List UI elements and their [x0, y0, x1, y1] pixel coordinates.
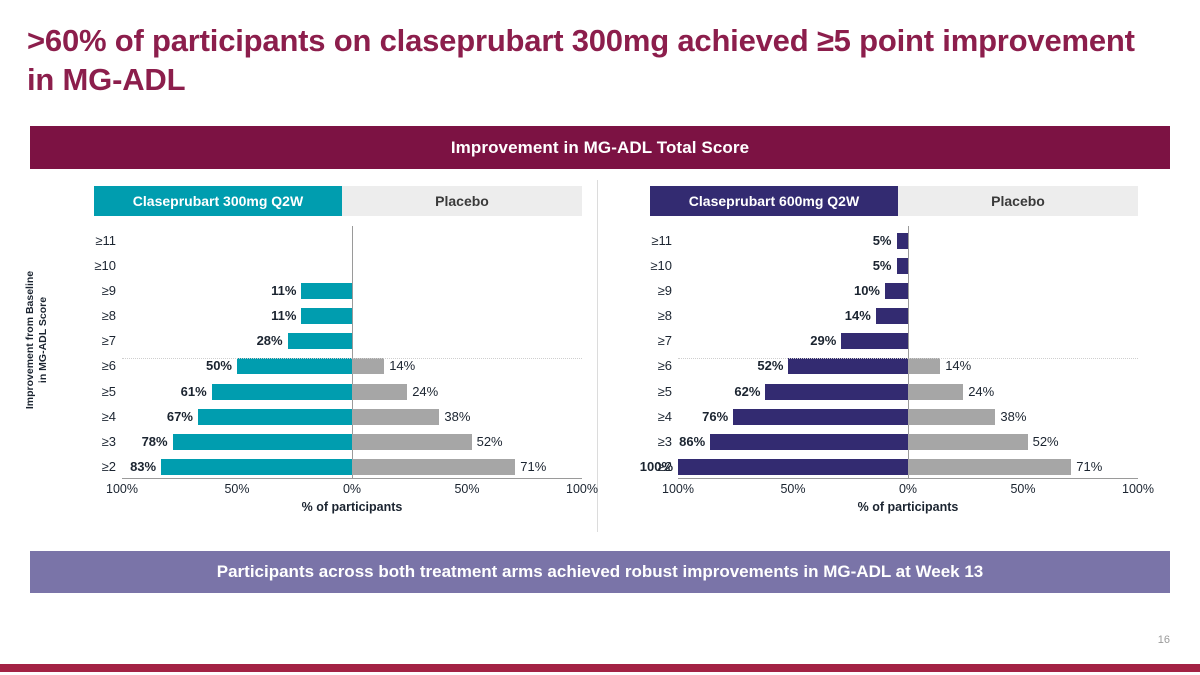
takeaway-label: Participants across both treatment arms … — [217, 562, 984, 582]
bar-placebo[interactable] — [352, 384, 407, 400]
bar-arm-300mg[interactable] — [237, 358, 352, 374]
bar-row: ≥11 — [122, 230, 582, 252]
legend-label-placebo-left: Placebo — [435, 193, 489, 209]
y-tick-label: ≥4 — [658, 406, 672, 428]
bar-arm-300mg[interactable] — [198, 409, 352, 425]
legend-item-arm-600mg[interactable]: Claseprubart 600mg Q2W — [650, 186, 898, 216]
y-tick-label: ≥11 — [95, 230, 116, 252]
bar-row: ≥4 67% 38% — [122, 406, 582, 428]
legend-label-arm-300mg: Claseprubart 300mg Q2W — [133, 193, 303, 209]
bar-arm-300mg[interactable] — [212, 384, 352, 400]
bar-value-label: 78% — [142, 431, 168, 453]
bar-value-label: 11% — [271, 280, 296, 302]
bar-value-label: 86% — [679, 431, 705, 453]
bar-row: ≥3 86% 52% — [678, 431, 1138, 453]
bar-arm-600mg[interactable] — [897, 258, 909, 274]
y-axis-title-left-line1: Improvement from Baseline — [24, 271, 36, 409]
bar-value-label: 5% — [873, 230, 892, 252]
x-tick-label: 100% — [1122, 482, 1154, 496]
bar-value-label: 28% — [257, 330, 283, 352]
y-tick-label: ≥4 — [102, 406, 116, 428]
y-tick-label: ≥11 — [651, 230, 672, 252]
x-tick-label: 100% — [106, 482, 138, 496]
section-header-label: Improvement in MG-ADL Total Score — [451, 138, 749, 158]
bar-value-label: 38% — [1000, 406, 1026, 428]
bar-arm-300mg[interactable] — [301, 308, 352, 324]
bottom-accent-stripe — [0, 664, 1200, 672]
y-tick-label: ≥3 — [658, 431, 672, 453]
bar-row: ≥5 61% 24% — [122, 381, 582, 403]
x-tick-label: 50% — [1010, 482, 1035, 496]
x-tick-label: 0% — [899, 482, 917, 496]
panel-divider — [597, 180, 598, 532]
x-axis-title-right: % of participants — [678, 500, 1138, 514]
bar-row: ≥2 100% 71% — [678, 456, 1138, 478]
bar-value-label: 11% — [271, 305, 296, 327]
bar-value-label: 5% — [873, 255, 892, 277]
page-title: >60% of participants on claseprubart 300… — [27, 22, 1137, 100]
reference-dotted-line-left — [122, 358, 582, 359]
bar-row: ≥7 29% — [678, 330, 1138, 352]
bar-arm-300mg[interactable] — [161, 459, 352, 475]
y-axis-title-left: Improvement from Baseline in MG-ADL Scor… — [24, 240, 44, 440]
bar-placebo[interactable] — [352, 459, 515, 475]
bar-row: ≥9 10% — [678, 280, 1138, 302]
bar-value-label: 62% — [734, 381, 760, 403]
bar-arm-300mg[interactable] — [301, 283, 352, 299]
legend-item-placebo-right[interactable]: Placebo — [898, 186, 1138, 216]
x-tick-label: 50% — [454, 482, 479, 496]
bar-placebo[interactable] — [908, 358, 940, 374]
bar-value-label: 24% — [412, 381, 438, 403]
bar-arm-600mg[interactable] — [788, 358, 908, 374]
y-tick-label: ≥7 — [658, 330, 672, 352]
bar-placebo[interactable] — [352, 358, 384, 374]
bar-row: ≥10 — [122, 255, 582, 277]
bar-arm-600mg[interactable] — [710, 434, 908, 450]
x-tick-label: 50% — [780, 482, 805, 496]
x-axis-line-left — [122, 478, 582, 479]
x-axis-line-right — [678, 478, 1138, 479]
bar-arm-600mg[interactable] — [885, 283, 908, 299]
y-tick-label: ≥10 — [94, 255, 116, 277]
chart-panel-600mg: Claseprubart 600mg Q2W Placebo ≥11 5% ≥1… — [608, 178, 1168, 540]
bar-row: ≥11 5% — [678, 230, 1138, 252]
legend-item-arm-300mg[interactable]: Claseprubart 300mg Q2W — [94, 186, 342, 216]
bar-placebo[interactable] — [908, 409, 995, 425]
bar-placebo[interactable] — [352, 409, 439, 425]
y-axis-title-left-line2: in MG-ADL Score — [37, 297, 49, 383]
bar-placebo[interactable] — [908, 384, 963, 400]
bar-value-label: 38% — [444, 406, 470, 428]
bar-value-label: 67% — [167, 406, 193, 428]
bar-row: ≥4 76% 38% — [678, 406, 1138, 428]
bar-row: ≥3 78% 52% — [122, 431, 582, 453]
bar-row: ≥9 11% — [122, 280, 582, 302]
bar-value-label: 10% — [854, 280, 880, 302]
chart-panel-300mg: Claseprubart 300mg Q2W Placebo Improveme… — [30, 178, 590, 540]
plot-area-300mg: ≥11 ≥10 ≥9 11% ≥8 11% ≥7 — [122, 230, 582, 478]
bar-value-label: 76% — [702, 406, 728, 428]
y-tick-label: ≥6 — [102, 355, 116, 377]
bar-placebo[interactable] — [352, 434, 472, 450]
plot-area-600mg: ≥11 5% ≥10 5% ≥9 10% ≥8 14% — [678, 230, 1138, 478]
bar-value-label: 24% — [968, 381, 994, 403]
y-tick-label: ≥9 — [102, 280, 116, 302]
bar-arm-600mg[interactable] — [733, 409, 908, 425]
bar-arm-300mg[interactable] — [173, 434, 352, 450]
reference-dotted-line-right — [678, 358, 1138, 359]
bar-arm-600mg[interactable] — [876, 308, 908, 324]
section-header-band: Improvement in MG-ADL Total Score — [30, 126, 1170, 169]
bar-value-label: 71% — [1076, 456, 1102, 478]
legend-label-arm-600mg: Claseprubart 600mg Q2W — [689, 193, 859, 209]
bar-value-label: 52% — [1033, 431, 1059, 453]
bar-value-label: 29% — [810, 330, 836, 352]
y-tick-label: ≥6 — [658, 355, 672, 377]
y-tick-label: ≥9 — [658, 280, 672, 302]
bar-row: ≥8 11% — [122, 305, 582, 327]
bar-row: ≥10 5% — [678, 255, 1138, 277]
bar-row: ≥7 28% — [122, 330, 582, 352]
bar-arm-300mg[interactable] — [288, 333, 352, 349]
y-tick-label: ≥7 — [102, 330, 116, 352]
x-axis-title-left: % of participants — [122, 500, 582, 514]
bar-placebo[interactable] — [908, 459, 1071, 475]
legend-600mg: Claseprubart 600mg Q2W Placebo — [650, 186, 1138, 216]
x-tick-label: 0% — [343, 482, 361, 496]
bar-value-label: 14% — [845, 305, 871, 327]
bar-row: ≥8 14% — [678, 305, 1138, 327]
legend-item-placebo-left[interactable]: Placebo — [342, 186, 582, 216]
bar-value-label: 71% — [520, 456, 546, 478]
y-tick-label: ≥8 — [658, 305, 672, 327]
bar-value-label: 100% — [640, 456, 673, 478]
y-tick-label: ≥5 — [102, 381, 116, 403]
bar-arm-600mg[interactable] — [897, 233, 909, 249]
charts-container: Claseprubart 300mg Q2W Placebo Improveme… — [30, 178, 1170, 540]
bar-value-label: 83% — [130, 456, 156, 478]
x-tick-label: 100% — [662, 482, 694, 496]
legend-300mg: Claseprubart 300mg Q2W Placebo — [94, 186, 582, 216]
y-tick-label: ≥8 — [102, 305, 116, 327]
y-tick-label: ≥3 — [102, 431, 116, 453]
bar-placebo[interactable] — [908, 434, 1028, 450]
slide: >60% of participants on claseprubart 300… — [0, 0, 1200, 675]
bar-arm-600mg[interactable] — [841, 333, 908, 349]
bar-value-label: 61% — [181, 381, 207, 403]
x-ticks-left: 100% 50% 0% 50% 100% — [122, 482, 582, 498]
x-ticks-right: 100% 50% 0% 50% 100% — [678, 482, 1138, 498]
bar-row: ≥5 62% 24% — [678, 381, 1138, 403]
x-tick-label: 100% — [566, 482, 598, 496]
takeaway-band: Participants across both treatment arms … — [30, 551, 1170, 593]
x-tick-label: 50% — [224, 482, 249, 496]
y-tick-label: ≥2 — [102, 456, 116, 478]
page-number: 16 — [1158, 634, 1170, 646]
bar-value-label: 52% — [477, 431, 503, 453]
y-tick-label: ≥5 — [658, 381, 672, 403]
y-tick-label: ≥10 — [650, 255, 672, 277]
bar-row: ≥2 83% 71% — [122, 456, 582, 478]
bar-arm-600mg[interactable] — [765, 384, 908, 400]
bar-arm-600mg[interactable] — [678, 459, 908, 475]
legend-label-placebo-right: Placebo — [991, 193, 1045, 209]
